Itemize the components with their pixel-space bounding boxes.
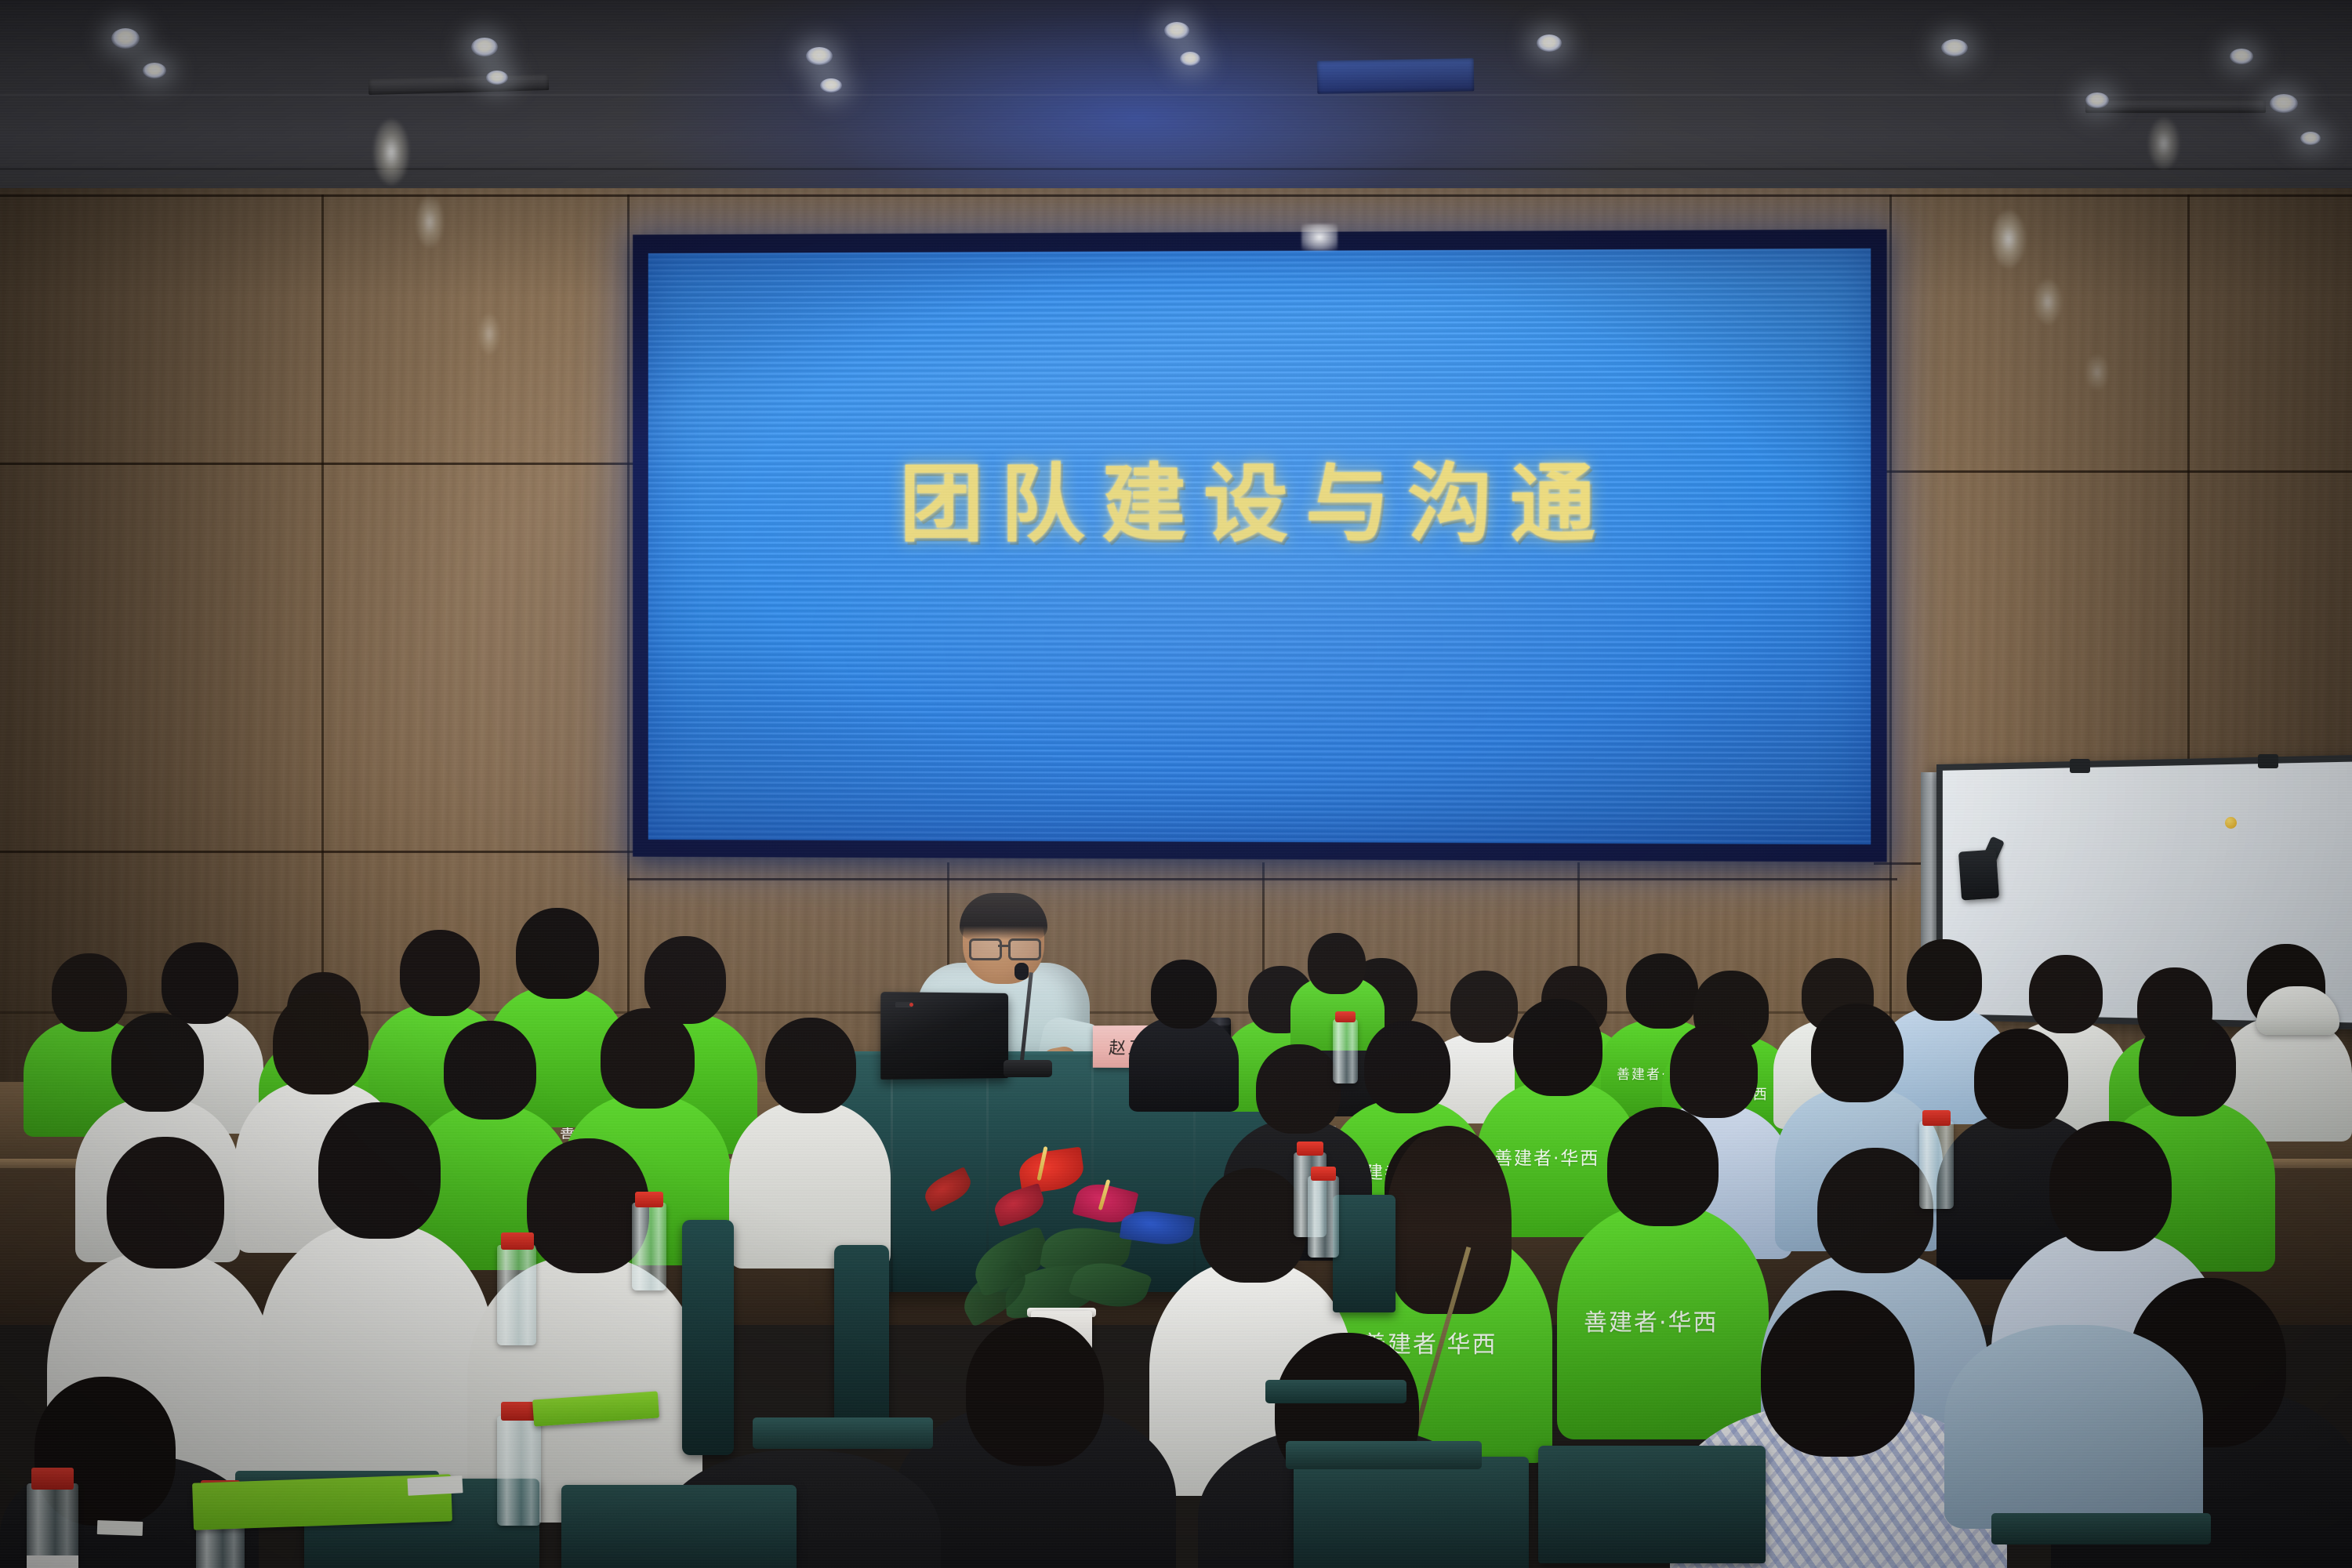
audience-person-head (52, 953, 127, 1032)
audience-person-head (1364, 1021, 1450, 1113)
audience-person-head (1761, 1290, 1915, 1457)
conference-room-scene: 团队建设与沟通 赵卫东 (0, 0, 2352, 1568)
audience-person-head (400, 930, 480, 1016)
audience-person-head (1974, 1029, 2068, 1129)
audience-person-head (1811, 1004, 1904, 1102)
seat[interactable] (1538, 1446, 1766, 1563)
audience-person-head (1151, 960, 1217, 1029)
seat[interactable] (1294, 1457, 1529, 1568)
audience-person-head (1513, 999, 1602, 1096)
uniform-shirt-text: 善建者·华西 (1584, 1303, 1719, 1338)
audience-person-head (765, 1018, 856, 1113)
audience-person-head (601, 1008, 695, 1109)
seat-armrest (753, 1417, 933, 1449)
seat-armrest (1286, 1441, 1482, 1469)
water-bottle-label (27, 1555, 78, 1568)
seat-back[interactable] (834, 1245, 889, 1441)
water-bottle-cap (1311, 1167, 1336, 1181)
audience-person-head (1817, 1148, 1933, 1273)
audience-person-head (2029, 955, 2103, 1033)
seat[interactable] (561, 1485, 797, 1568)
paper-sheet[interactable] (407, 1475, 463, 1496)
audience-person-head (1607, 1107, 1719, 1226)
audience-person-head (107, 1137, 224, 1269)
audience-person-head (162, 942, 238, 1024)
audience-person-head (527, 1138, 649, 1273)
audience-person-head (966, 1317, 1104, 1466)
audience-area: 善建者·华西 善建者·华西 善建者·华西 (0, 0, 2352, 1568)
audience-person-head (1670, 1024, 1758, 1118)
water-bottle[interactable] (1919, 1121, 1954, 1209)
audience-person-body (729, 1101, 891, 1269)
audience-long-hair (1386, 1126, 1512, 1314)
audience-person-head (1256, 1044, 1341, 1134)
water-bottle-cap (1922, 1110, 1951, 1126)
audience-person-head (1308, 933, 1366, 994)
water-bottle[interactable] (497, 1245, 536, 1345)
audience-person-head (1450, 971, 1518, 1043)
audience-person-head (2049, 1121, 2172, 1251)
seat-armrest (1991, 1513, 2211, 1544)
water-bottle[interactable] (1333, 1019, 1358, 1083)
audience-person-head (111, 1013, 204, 1112)
water-bottle[interactable] (632, 1203, 666, 1290)
audience-person-body (259, 1223, 494, 1497)
water-bottle-cap (31, 1468, 74, 1490)
audience-person-head (273, 993, 368, 1094)
water-bottle-cap (501, 1402, 537, 1421)
audience-person-head (1200, 1168, 1306, 1283)
audience-person-head (318, 1102, 441, 1239)
water-bottle-cap (1335, 1011, 1356, 1022)
audience-person-head (444, 1021, 536, 1120)
water-bottle-cap (1297, 1142, 1323, 1156)
seat-armrest (1265, 1380, 1406, 1403)
water-bottle-cap (501, 1232, 534, 1250)
uniform-shirt-text: 善建者·华西 (1494, 1143, 1599, 1170)
audience-person-head (516, 908, 599, 999)
paper-sheet[interactable] (97, 1520, 143, 1536)
water-bottle-cap (635, 1192, 663, 1207)
water-bottle[interactable] (1308, 1176, 1339, 1258)
water-bottle[interactable] (497, 1416, 541, 1526)
audience-person-head (1907, 939, 1982, 1021)
audience-person-body (1129, 1016, 1239, 1112)
seat-back[interactable] (682, 1220, 734, 1455)
audience-person-body (1944, 1325, 2203, 1529)
audience-person-head (2139, 1013, 2236, 1116)
seat-back[interactable] (1333, 1195, 1396, 1312)
audience-person-head (1626, 953, 1698, 1029)
